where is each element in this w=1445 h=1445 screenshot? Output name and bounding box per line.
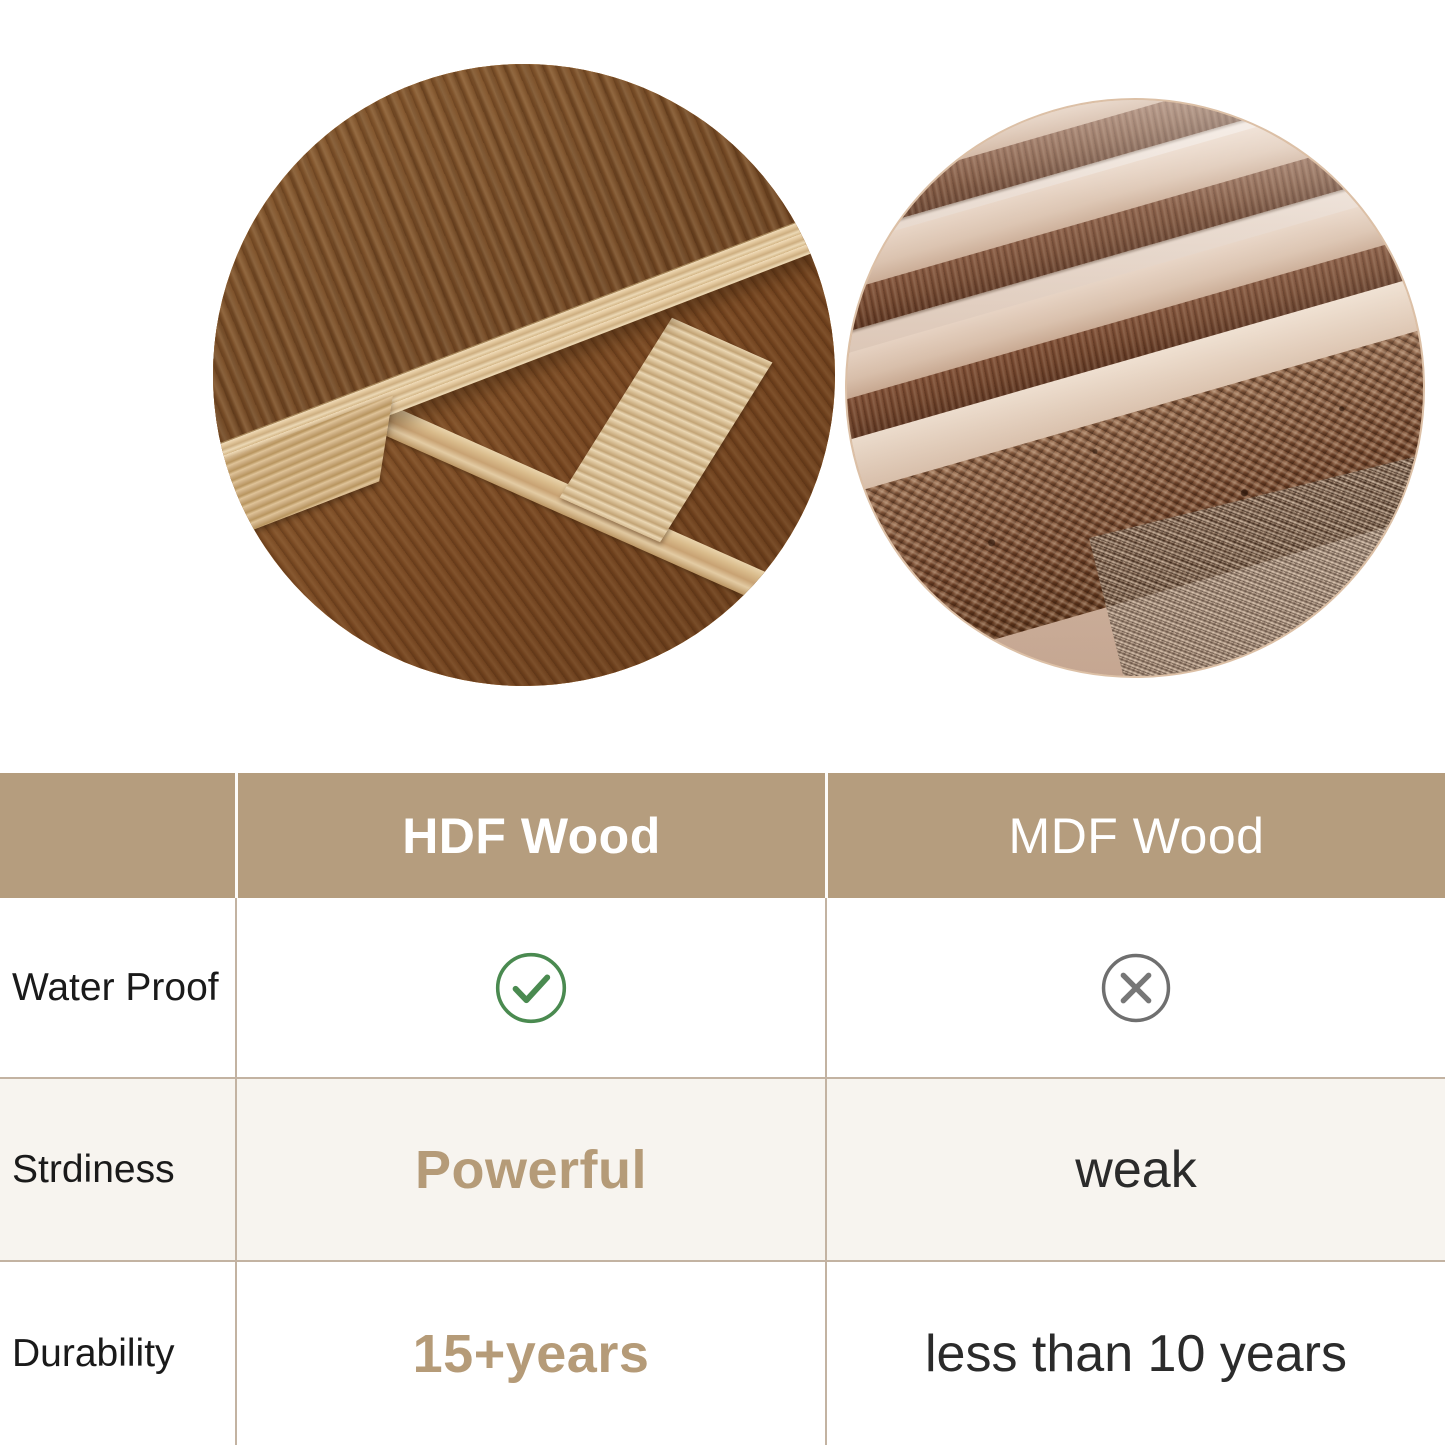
cell-hdf-durability: 15+years: [235, 1262, 825, 1445]
row-label-cell: Durability: [0, 1262, 235, 1445]
table-row: Water Proof: [0, 898, 1445, 1077]
cell-mdf-durability: less than 10 years: [825, 1262, 1445, 1445]
row-label-sturdiness: Strdiness: [12, 1150, 175, 1189]
header-cell-mdf: MDF Wood: [825, 773, 1445, 898]
product-photo-band: [0, 0, 1445, 773]
table-row: Strdiness Powerful weak: [0, 1077, 1445, 1262]
photo-light-haze: [847, 100, 1423, 676]
header-cell-hdf: HDF Wood: [235, 773, 825, 898]
mdf-fiberboard-photo: [845, 98, 1425, 678]
hdf-vs-mdf-comparison-table: HDF Wood MDF Wood Water Proof: [0, 773, 1445, 1445]
cell-hdf-water-proof: [235, 898, 825, 1077]
value-hdf-sturdiness: Powerful: [415, 1143, 647, 1197]
row-label-durability: Durability: [12, 1334, 175, 1373]
header-cell-spacer: [0, 773, 235, 898]
table-header-row: HDF Wood MDF Wood: [0, 773, 1445, 898]
table-row: Durability 15+years less than 10 years: [0, 1262, 1445, 1445]
x-circle-icon: [1098, 950, 1174, 1026]
header-label-mdf: MDF Wood: [1009, 811, 1265, 861]
value-hdf-durability: 15+years: [413, 1327, 650, 1381]
row-label-cell: Strdiness: [0, 1079, 235, 1260]
value-mdf-durability: less than 10 years: [925, 1328, 1347, 1380]
check-circle-icon: [492, 949, 570, 1027]
cell-mdf-sturdiness: weak: [825, 1079, 1445, 1260]
cell-hdf-sturdiness: Powerful: [235, 1079, 825, 1260]
header-label-hdf: HDF Wood: [402, 811, 661, 861]
value-mdf-sturdiness: weak: [1075, 1144, 1196, 1196]
row-label-cell: Water Proof: [0, 898, 235, 1077]
row-label-water-proof: Water Proof: [12, 968, 219, 1007]
hdf-plywood-photo: [213, 64, 835, 686]
cell-mdf-water-proof: [825, 898, 1445, 1077]
